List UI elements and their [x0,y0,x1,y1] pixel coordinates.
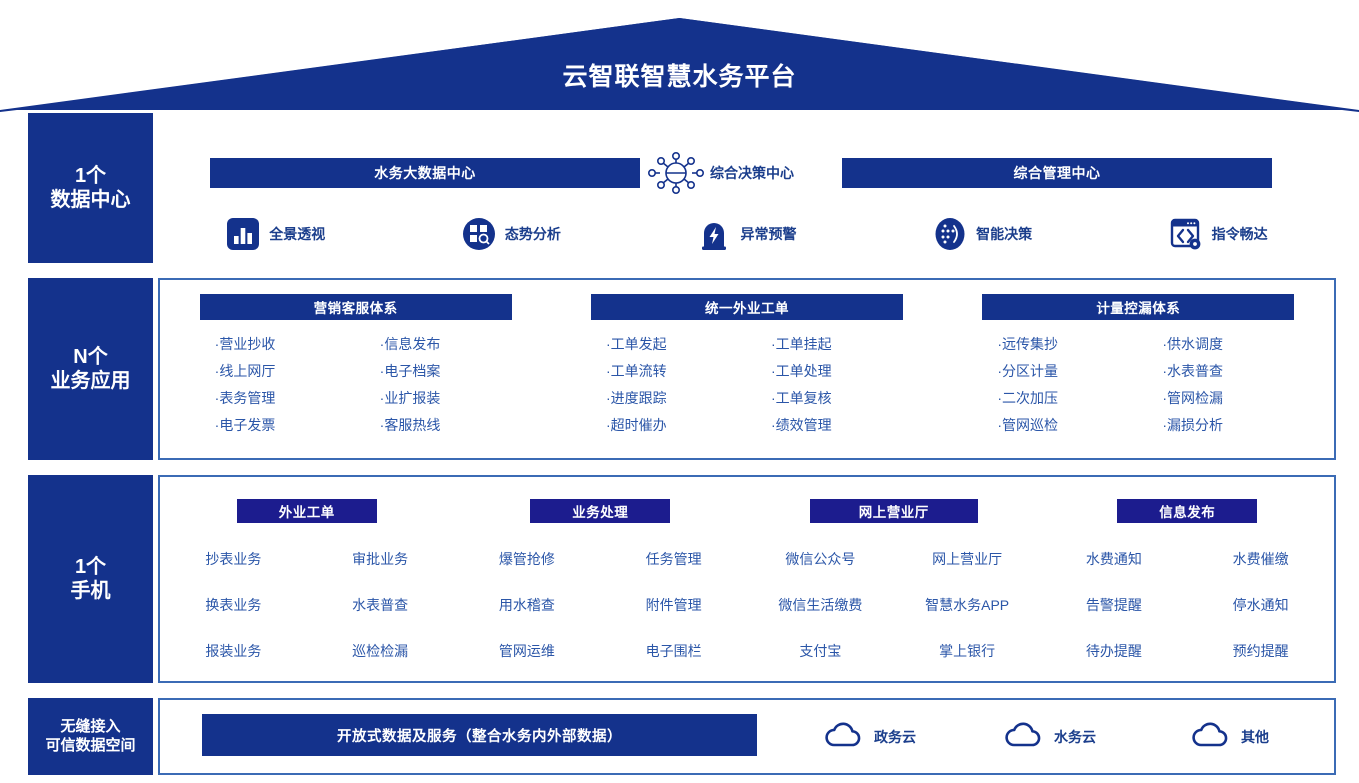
app-group-marketing: 营销客服体系 ·营业抄收 ·信息发布 ·线上网厅 ·电子档案 ·表务管理 ·业扩… [160,294,551,448]
group-items: 抄表业务 审批业务 换表业务 水表普查 报装业务 巡检检漏 [160,549,454,661]
group-header[interactable]: 信息发布 [1117,499,1257,523]
capability-label: 态势分析 [505,224,561,244]
row-mobile: 1个 手机 外业工单 抄表业务 审批业务 换表业务 水表普查 报装业务 巡检检漏 [0,475,1359,683]
list-item[interactable]: ·漏损分析 [1138,415,1303,435]
cloud-label: 政务云 [874,727,916,747]
bar-big-data-center[interactable]: 水务大数据中心 [210,158,640,188]
cloud-icon [824,720,864,753]
list-item[interactable]: ·工单复核 [747,388,912,408]
list-item[interactable]: 告警提醒 [1086,595,1142,615]
group-items: ·营业抄收 ·信息发布 ·线上网厅 ·电子档案 ·表务管理 ·业扩报装 ·电子发… [191,334,521,435]
list-item[interactable]: ·进度跟踪 [582,388,747,408]
capability-label: 智能决策 [976,224,1032,244]
list-item[interactable]: ·供水调度 [1138,334,1303,354]
list-item[interactable]: 用水稽查 [499,595,555,615]
capability-label: 异常预警 [740,224,796,244]
app-group-field-workorder: 统一外业工单 ·工单发起 ·工单挂起 ·工单流转 ·工单处理 ·进度跟踪 ·工单… [551,294,942,448]
group-items: 爆管抢修 任务管理 用水稽查 附件管理 管网运维 电子围栏 [454,549,748,661]
list-item[interactable]: 支付宝 [799,641,841,661]
list-item[interactable]: ·水表普查 [1138,361,1303,381]
list-item[interactable]: ·营业抄收 [191,334,356,354]
bar-open-data-services[interactable]: 开放式数据及服务（整合水务内外部数据） [202,714,757,756]
list-item[interactable]: 水费通知 [1086,549,1142,569]
list-item[interactable]: 电子围栏 [646,641,702,661]
panel-seamless-access: 开放式数据及服务（整合水务内外部数据） 政务云 [158,698,1336,775]
capability-anomaly-alert[interactable]: 异常预警 [629,209,865,259]
list-item[interactable]: ·客服热线 [356,415,521,435]
row-label-line1: 1个 [75,164,106,188]
bar-chart-icon [226,217,260,251]
capability-label: 指令畅达 [1212,224,1268,244]
list-item[interactable]: 预约提醒 [1233,641,1289,661]
group-items: 水费通知 水费催缴 告警提醒 停水通知 待办提醒 预约提醒 [1041,549,1335,661]
list-item[interactable]: ·信息发布 [356,334,521,354]
group-items: ·工单发起 ·工单挂起 ·工单流转 ·工单处理 ·进度跟踪 ·工单复核 ·超时催… [582,334,912,435]
bar-integrated-management-center[interactable]: 综合管理中心 [842,158,1272,188]
row-label-seamless-access: 无缝接入 可信数据空间 [28,698,153,775]
row-label-line2: 可信数据空间 [45,737,135,755]
row-data-center: 1个 数据中心 水务大数据中心 综合决策中心 [0,113,1359,263]
list-item[interactable]: ·电子档案 [356,361,521,381]
list-item[interactable]: 网上营业厅 [932,549,1002,569]
list-item[interactable]: ·管网巡检 [973,415,1138,435]
row-label-line1: N个 [73,345,107,369]
list-item[interactable]: ·表务管理 [191,388,356,408]
list-item[interactable]: 微信公众号 [785,549,855,569]
list-item[interactable]: 附件管理 [646,595,702,615]
mobile-group-business-processing: 业务处理 爆管抢修 任务管理 用水稽查 附件管理 管网运维 电子围栏 [454,499,748,667]
cloud-label: 水务云 [1054,727,1096,747]
group-header[interactable]: 外业工单 [237,499,377,523]
capability-panoramic[interactable]: 全景透视 [158,209,394,259]
list-item[interactable]: ·绩效管理 [747,415,912,435]
list-item[interactable]: ·业扩报装 [356,388,521,408]
list-item[interactable]: ·工单挂起 [747,334,912,354]
capability-intelligent-decision[interactable]: 智能决策 [865,209,1101,259]
decision-network-icon [648,151,704,195]
list-item[interactable]: 智慧水务APP [925,595,1009,615]
list-item[interactable]: ·工单流转 [582,361,747,381]
list-item[interactable]: 换表业务 [205,595,261,615]
list-item[interactable]: ·分区计量 [973,361,1138,381]
list-item[interactable]: 报装业务 [205,641,261,661]
list-item[interactable]: 任务管理 [646,549,702,569]
list-item[interactable]: 掌上银行 [939,641,995,661]
group-header[interactable]: 统一外业工单 [591,294,903,320]
panel-mobile: 外业工单 抄表业务 审批业务 换表业务 水表普查 报装业务 巡检检漏 业务处理 … [158,475,1336,683]
list-item[interactable]: 审批业务 [352,549,408,569]
list-item[interactable]: ·超时催办 [582,415,747,435]
capability-situation-analysis[interactable]: 态势分析 [394,209,630,259]
row-seamless-access: 无缝接入 可信数据空间 开放式数据及服务（整合水务内外部数据） 政务云 [0,698,1359,775]
list-item[interactable]: 微信生活缴费 [778,595,862,615]
decision-tree-icon [933,217,967,251]
list-item[interactable]: 抄表业务 [205,549,261,569]
panel-data-center: 水务大数据中心 综合决策中心 综合管理中心 [158,113,1336,263]
group-items: 微信公众号 网上营业厅 微信生活缴费 智慧水务APP 支付宝 掌上银行 [747,549,1041,661]
row-label-mobile: 1个 手机 [28,475,153,683]
row-label-line2: 手机 [71,579,111,603]
group-header[interactable]: 营销客服体系 [200,294,512,320]
list-item[interactable]: 爆管抢修 [499,549,555,569]
mobile-group-information-release: 信息发布 水费通知 水费催缴 告警提醒 停水通知 待办提醒 预约提醒 [1041,499,1335,667]
row-label-line2: 数据中心 [51,188,131,212]
cloud-label: 其他 [1241,727,1269,747]
list-item[interactable]: 管网运维 [499,641,555,661]
cloud-list: 政务云 水务云 [780,700,1320,773]
list-item[interactable]: ·二次加压 [973,388,1138,408]
list-item[interactable]: ·工单发起 [582,334,747,354]
row-business-applications: N个 业务应用 营销客服体系 ·营业抄收 ·信息发布 ·线上网厅 ·电子档案 ·… [0,278,1359,460]
list-item[interactable]: ·管网检漏 [1138,388,1303,408]
capability-command-delivery[interactable]: 指令畅达 [1100,209,1336,259]
list-item[interactable]: ·远传集抄 [973,334,1138,354]
panel-business-applications: 营销客服体系 ·营业抄收 ·信息发布 ·线上网厅 ·电子档案 ·表务管理 ·业扩… [158,278,1336,460]
mobile-group-online-hall: 网上营业厅 微信公众号 网上营业厅 微信生活缴费 智慧水务APP 支付宝 掌上银… [747,499,1041,667]
list-item[interactable]: 停水通知 [1233,595,1289,615]
app-group-metering-leakage: 计量控漏体系 ·远传集抄 ·供水调度 ·分区计量 ·水表普查 ·二次加压 ·管网… [943,294,1334,448]
architecture-diagram: 云智联智慧水务平台 1个 数据中心 水务大数据中心 [0,0,1359,783]
capability-label: 全景透视 [269,224,325,244]
list-item[interactable]: 巡检检漏 [352,641,408,661]
list-item[interactable]: 水表普查 [352,595,408,615]
group-header[interactable]: 计量控漏体系 [982,294,1294,320]
list-item[interactable]: 待办提醒 [1086,641,1142,661]
alert-bell-lightning-icon [697,217,731,251]
label-decision-center: 综合决策中心 [710,163,794,183]
mobile-group-field-workorder: 外业工单 抄表业务 审批业务 换表业务 水表普查 报装业务 巡检检漏 [160,499,454,667]
capability-icon-row: 全景透视 态势分析 [158,209,1336,259]
cloud-other[interactable]: 其他 [1140,720,1320,753]
row-label-line1: 1个 [75,555,106,579]
grid-search-icon [462,217,496,251]
cloud-icon [1191,720,1231,753]
list-item[interactable]: ·线上网厅 [191,361,356,381]
row-label-business-applications: N个 业务应用 [28,278,153,460]
cloud-government[interactable]: 政务云 [780,720,960,753]
row-label-data-center: 1个 数据中心 [28,113,153,263]
cloud-water[interactable]: 水务云 [960,720,1140,753]
code-window-gear-icon [1169,217,1203,251]
group-header[interactable]: 业务处理 [530,499,670,523]
list-item[interactable]: ·工单处理 [747,361,912,381]
page-title: 云智联智慧水务平台 [0,57,1359,93]
list-item[interactable]: 水费催缴 [1233,549,1289,569]
group-items: ·远传集抄 ·供水调度 ·分区计量 ·水表普查 ·二次加压 ·管网检漏 ·管网巡… [973,334,1303,435]
cloud-icon [1004,720,1044,753]
row-label-line2: 业务应用 [51,369,131,393]
list-item[interactable]: ·电子发票 [191,415,356,435]
group-header[interactable]: 网上营业厅 [810,499,978,523]
row-label-line1: 无缝接入 [60,718,120,736]
